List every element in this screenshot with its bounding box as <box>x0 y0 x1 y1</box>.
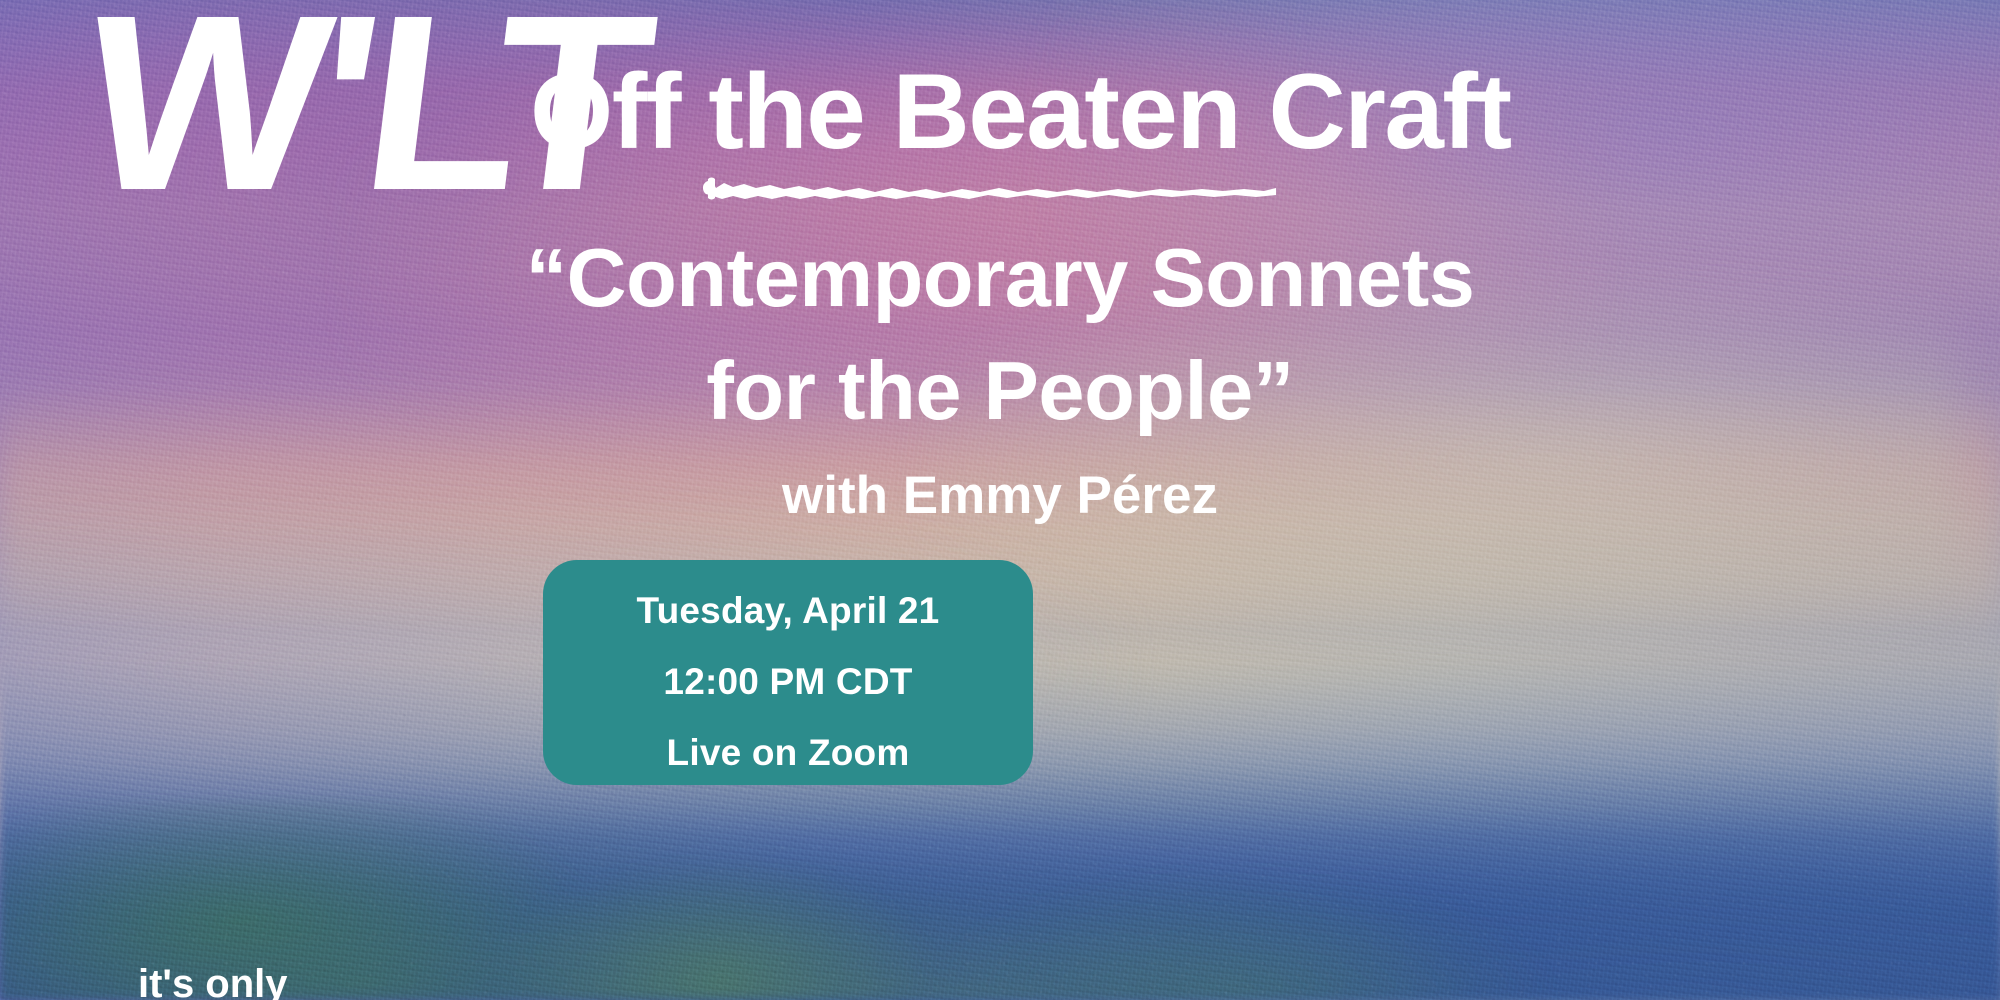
presenter-name: with Emmy Pérez <box>0 465 2000 526</box>
event-time: 12:00 PM CDT <box>663 663 912 700</box>
event-date: Tuesday, April 21 <box>637 592 940 629</box>
brush-underline-icon <box>700 168 1280 208</box>
event-poster: W'LT Off the Beaten Craft “Contemporary … <box>0 0 2000 1000</box>
poster-content: W'LT Off the Beaten Craft “Contemporary … <box>0 0 2000 1000</box>
event-details-card: Tuesday, April 21 12:00 PM CDT Live on Z… <box>543 560 1033 785</box>
series-title: Off the Beaten Craft <box>530 58 1511 165</box>
talk-title: “Contemporary Sonnets for the People” <box>0 222 2000 448</box>
talk-title-line-1: “Contemporary Sonnets <box>0 222 2000 335</box>
footnote-text: it's only <box>138 962 288 1000</box>
event-platform: Live on Zoom <box>667 734 910 771</box>
talk-title-line-2: for the People” <box>0 335 2000 448</box>
